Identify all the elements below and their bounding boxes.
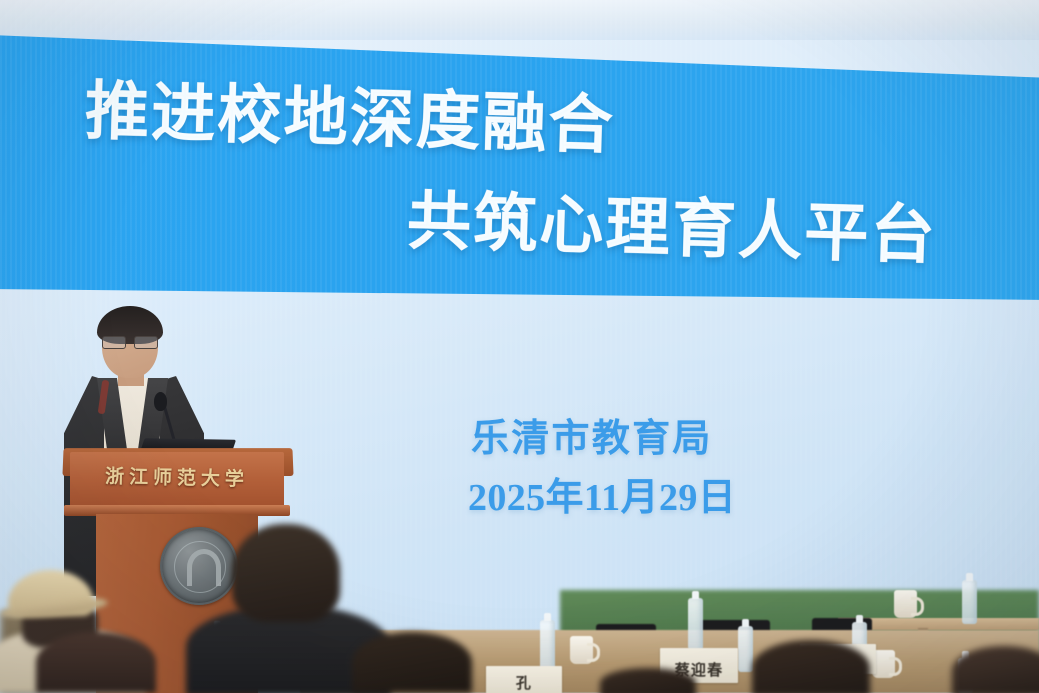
- water-bottle: [688, 598, 703, 650]
- name-card: 孔: [486, 666, 562, 693]
- slide-title-line-2: 共筑心理育人平台: [406, 189, 938, 268]
- slide-date: 2025年11月29日: [468, 466, 736, 521]
- water-bottle: [962, 580, 977, 624]
- ceramic-mug: [570, 636, 593, 664]
- slide-organization: 乐清市教育局: [471, 407, 713, 462]
- presentation-photo: 推进校地深度融合 共筑心理育人平台 乐清市教育局 2025年11月29日 浙江师…: [0, 0, 1039, 693]
- slide-title-group: 推进校地深度融合 共筑心理育人平台: [0, 0, 1039, 310]
- university-seal-emblem: [160, 527, 238, 605]
- audience-person-head: [952, 646, 1039, 693]
- water-bottle: [540, 620, 555, 670]
- speaker-glasses: [102, 336, 158, 347]
- slide-title-line-1: 推进校地深度融合: [84, 79, 616, 158]
- ceramic-mug: [894, 590, 917, 618]
- audience-person-head: [752, 640, 870, 693]
- audience-person-head: [232, 524, 340, 622]
- microphone-icon: [154, 392, 167, 411]
- audience-person-head: [36, 632, 156, 693]
- audience-person-head: [600, 668, 696, 693]
- podium-institution-name: 浙江师范大学: [70, 453, 285, 499]
- emblem-arch-mark-icon: [187, 549, 221, 586]
- audience-person-head: [352, 632, 472, 693]
- water-bottle: [738, 626, 753, 672]
